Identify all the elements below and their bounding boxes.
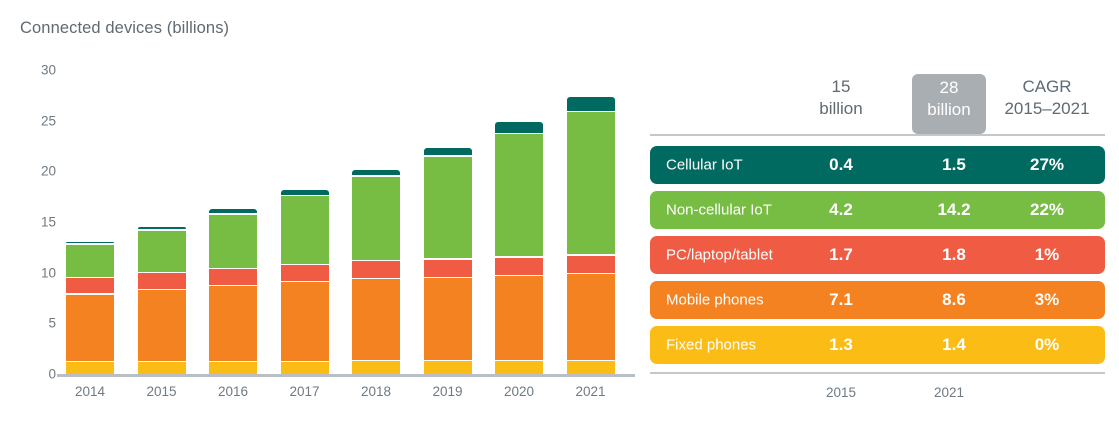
bar-segment-2017-pc-laptop-tablet (281, 265, 329, 281)
bar-segment-2016-non-cellular-iot (209, 215, 257, 268)
bar-segment-2017-fixed-phones (281, 362, 329, 374)
table-header-2015: 15 billion (786, 76, 896, 121)
table-header-2021-highlight: 28 billion (912, 74, 986, 134)
bar-segment-2015-pc-laptop-tablet (138, 273, 186, 289)
x-axis-label-2017: 2017 (281, 384, 329, 399)
bar-segment-2020-pc-laptop-tablet (495, 258, 543, 275)
bar-segment-2018-non-cellular-iot (352, 177, 400, 260)
cell-pc-laptop-tablet-v2015: 1.7 (786, 245, 896, 265)
bar-segment-2020-fixed-phones (495, 361, 543, 374)
bar-segment-2018-fixed-phones (352, 361, 400, 374)
bar-segment-2014-non-cellular-iot (66, 245, 114, 277)
bar-segment-2014-mobile-phones (66, 295, 114, 361)
bar-2020 (495, 121, 543, 374)
bar-segment-2021-cellular-iot (567, 97, 615, 111)
header-cagr-line2: 2015–2021 (1004, 99, 1089, 118)
bar-segment-2014-pc-laptop-tablet (66, 278, 114, 293)
cell-fixed-phones-v2015: 1.3 (786, 335, 896, 355)
header-2021-line1: 28 (940, 78, 959, 97)
bar-segment-2016-cellular-iot (209, 209, 257, 212)
bar-2016 (209, 208, 257, 374)
bar-segment-2018-mobile-phones (352, 279, 400, 359)
bar-segment-2021-mobile-phones (567, 274, 615, 360)
bar-segment-2015-non-cellular-iot (138, 231, 186, 272)
bar-segment-2015-mobile-phones (138, 290, 186, 360)
cell-cellular-iot-v2015: 0.4 (786, 155, 896, 175)
table-footer-divider (650, 372, 1105, 374)
header-cagr-line1: CAGR (1022, 77, 1071, 96)
bar-segment-2014-fixed-phones (66, 362, 114, 374)
table-row-non-cellular-iot[interactable]: Non-cellular IoT4.214.222% (650, 191, 1105, 229)
bar-segment-2020-mobile-phones (495, 276, 543, 360)
bar-segment-2020-non-cellular-iot (495, 134, 543, 256)
x-axis-label-2016: 2016 (209, 384, 257, 399)
bar-segment-2015-fixed-phones (138, 362, 186, 374)
bar-segment-2019-fixed-phones (424, 361, 472, 374)
footer-label-2015: 2015 (786, 385, 896, 400)
bar-segment-2019-non-cellular-iot (424, 157, 472, 259)
bar-2021 (567, 95, 615, 374)
cell-pc-laptop-tablet-cagr: 1% (986, 245, 1108, 265)
bar-segment-2014-cellular-iot (66, 242, 114, 243)
cell-cellular-iot-cagr: 27% (986, 155, 1108, 175)
bar-segment-2019-mobile-phones (424, 278, 472, 359)
table-row-cellular-iot[interactable]: Cellular IoT0.41.527% (650, 146, 1105, 184)
bar-segment-2016-pc-laptop-tablet (209, 269, 257, 285)
bar-segment-2016-fixed-phones (209, 362, 257, 374)
x-axis-label-2020: 2020 (495, 384, 543, 399)
bar-segment-2021-non-cellular-iot (567, 112, 615, 254)
bar-segment-2019-cellular-iot (424, 148, 472, 156)
bar-segment-2021-fixed-phones (567, 361, 615, 374)
table-header-row: 15 billion 28 billion CAGR 2015–2021 (646, 76, 1109, 132)
row-label-pc-laptop-tablet: PC/laptop/tablet (666, 247, 773, 264)
x-axis-label-2021: 2021 (567, 384, 615, 399)
bar-segment-2016-mobile-phones (209, 286, 257, 360)
x-axis-line (57, 374, 635, 377)
summary-table: 15 billion 28 billion CAGR 2015–2021 Cel… (646, 0, 1109, 432)
cell-mobile-phones-v2015: 7.1 (786, 290, 896, 310)
header-2015-line1: 15 (832, 77, 851, 96)
row-label-fixed-phones: Fixed phones (666, 337, 756, 354)
x-axis-label-2019: 2019 (424, 384, 472, 399)
table-row-mobile-phones[interactable]: Mobile phones7.18.63% (650, 281, 1105, 319)
table-header-divider (650, 134, 1105, 136)
row-label-non-cellular-iot: Non-cellular IoT (666, 202, 772, 219)
row-label-mobile-phones: Mobile phones (666, 292, 764, 309)
x-axis-label-2015: 2015 (138, 384, 186, 399)
header-2015-line2: billion (819, 99, 862, 118)
cell-non-cellular-iot-cagr: 22% (986, 200, 1108, 220)
bar-segment-2017-cellular-iot (281, 190, 329, 194)
table-row-pc-laptop-tablet[interactable]: PC/laptop/tablet1.71.81% (650, 236, 1105, 274)
bar-2017 (281, 189, 329, 374)
footer-label-2021: 2021 (904, 385, 994, 400)
table-row-fixed-phones[interactable]: Fixed phones1.31.40% (650, 326, 1105, 364)
bar-segment-2015-cellular-iot (138, 227, 186, 229)
bar-segment-2018-cellular-iot (352, 170, 400, 175)
bar-segment-2021-pc-laptop-tablet (567, 256, 615, 273)
bar-2014 (66, 240, 114, 374)
x-axis-label-2014: 2014 (66, 384, 114, 399)
bar-segment-2017-non-cellular-iot (281, 196, 329, 263)
chart-page: Connected devices (billions) 30252015105… (0, 0, 1119, 432)
header-2021-line2: billion (927, 100, 970, 119)
x-axis-label-2018: 2018 (352, 384, 400, 399)
bar-2019 (424, 146, 472, 374)
cell-non-cellular-iot-v2015: 4.2 (786, 200, 896, 220)
bar-segment-2019-pc-laptop-tablet (424, 260, 472, 277)
bar-segment-2017-mobile-phones (281, 282, 329, 360)
bar-chart: 302520151050 201420152016201720182019202… (0, 0, 640, 432)
row-label-cellular-iot: Cellular IoT (666, 157, 743, 174)
cell-mobile-phones-cagr: 3% (986, 290, 1108, 310)
bar-2018 (352, 168, 400, 374)
cell-fixed-phones-cagr: 0% (986, 335, 1108, 355)
bar-segment-2018-pc-laptop-tablet (352, 261, 400, 278)
bar-series-group (0, 0, 640, 432)
bar-2015 (138, 225, 186, 374)
table-header-cagr: CAGR 2015–2021 (986, 76, 1108, 121)
bar-segment-2020-cellular-iot (495, 122, 543, 133)
